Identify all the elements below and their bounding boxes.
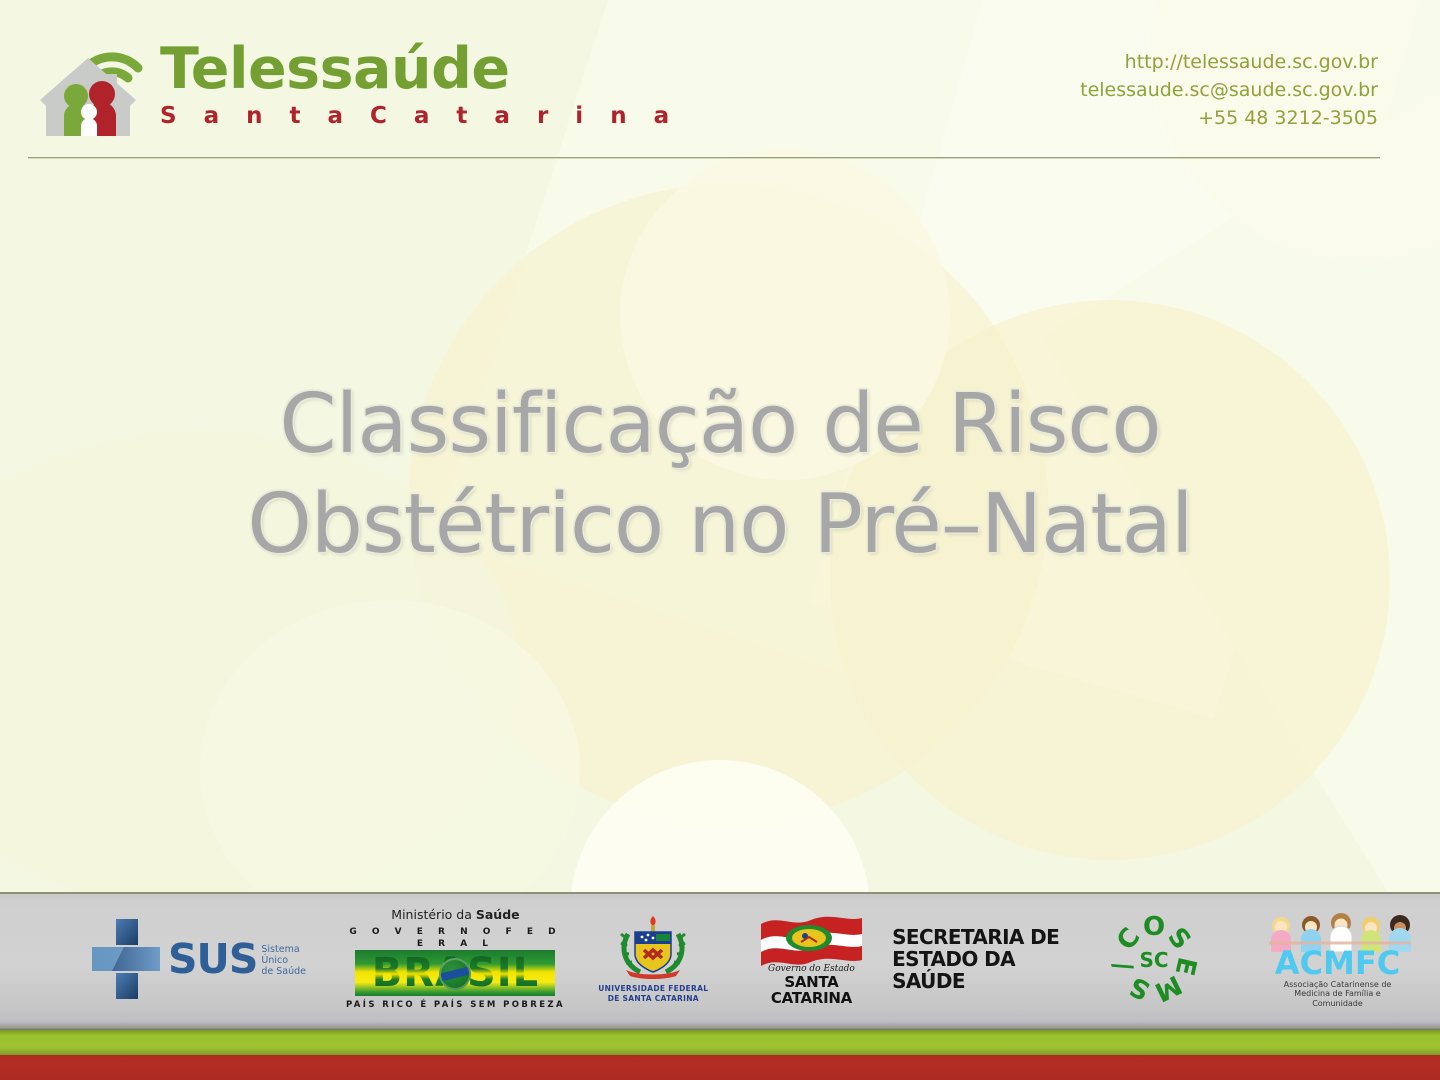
footer-logo-bar: SUS Sistema Único de Saúde Ministério da… [0, 892, 1440, 1024]
footer-accent-bar-red [0, 1055, 1440, 1080]
acmfc-subtitle-line1: Associação Catarinense de [1284, 980, 1392, 990]
title-line-1: Classificação de Risco [0, 375, 1440, 475]
telessaude-subtitle: S a n t a C a t a r i n a [160, 102, 679, 130]
santa-catarina-flag-icon [759, 912, 864, 972]
cosems-sc-logo: O S E M S / C SC [1073, 909, 1235, 1009]
contact-phone: +55 48 3212-3505 [1080, 104, 1378, 132]
contact-email[interactable]: telessaude.sc@saude.sc.gov.br [1080, 76, 1378, 104]
sus-subtitle-line1: Sistema [261, 944, 306, 955]
sus-subtitle-line3: de Saúde [261, 966, 306, 977]
governo-federal-label: G O V E R N O F E D E R A L [341, 926, 570, 950]
ministerio-saude-label: Ministério da Saúde [391, 907, 519, 922]
slide-title: Classificação de Risco Obstétrico no Pré… [0, 375, 1440, 575]
house-wifi-people-icon [38, 36, 156, 140]
telessaude-logo: Telessaúde S a n t a C a t a r i n a [38, 34, 518, 144]
sus-subtitle: Sistema Único de Saúde [261, 944, 306, 977]
svg-text:/: / [1108, 958, 1139, 974]
brasil-slogan: PAÍS RICO É PAÍS SEM POBREZA [346, 999, 565, 1011]
ufsc-label: UNIVERSIDADE FEDERAL DE SANTA CATARINA [598, 984, 708, 1004]
ufsc-label-line1: UNIVERSIDADE FEDERAL [598, 984, 708, 994]
svg-text:SC: SC [1139, 948, 1168, 972]
ministerio-prefix: Ministério da [391, 907, 476, 922]
svg-text:O: O [1143, 913, 1165, 942]
acmfc-logo: ACMFC Associação Catarinense de Medicina… [1235, 909, 1440, 1009]
contact-website[interactable]: http://telessaude.sc.gov.br [1080, 48, 1378, 76]
title-line-2: Obstétrico no Pré–Natal [0, 475, 1440, 575]
secretaria-line-2: ESTADO DA SAÚDE [892, 948, 1073, 992]
contact-info: http://telessaude.sc.gov.br telessaude.s… [1080, 48, 1378, 132]
acmfc-subtitle-line2: Medicina de Família e [1284, 989, 1392, 999]
sus-logo: SUS Sistema Único de Saúde [0, 909, 341, 1009]
ufsc-logo: UNIVERSIDADE FEDERAL DE SANTA CATARINA [570, 909, 737, 1009]
acmfc-subtitle: Associação Catarinense de Medicina de Fa… [1284, 980, 1392, 1009]
brasil-governo-federal-logo: Ministério da Saúde G O V E R N O F E D … [341, 909, 570, 1009]
santa-catarina-label: SANTA CATARINA [749, 974, 874, 1006]
secretaria-estado-saude-logo: Governo do Estado SANTA CATARINA SECRETA… [737, 909, 1073, 1009]
footer-divider-bar [0, 1022, 1440, 1030]
ufsc-label-line2: DE SANTA CATARINA [598, 994, 708, 1004]
slide-header: Telessaúde S a n t a C a t a r i n a htt… [0, 0, 1440, 160]
secretaria-line-1: SECRETARIA DE [892, 926, 1073, 948]
acmfc-acronym: ACMFC [1275, 946, 1400, 980]
sus-cross-icon [90, 917, 162, 1001]
ministerio-bold: Saúde [476, 907, 520, 922]
brasil-wordmark-block: BRASIL [355, 950, 555, 996]
svg-text:S: S [1125, 970, 1155, 1005]
ufsc-coat-of-arms-icon [618, 914, 688, 980]
header-divider [28, 157, 1380, 159]
sus-subtitle-line2: Único [261, 955, 306, 966]
telessaude-title: Telessaúde [160, 38, 679, 100]
telessaude-wordmark: Telessaúde S a n t a C a t a r i n a [160, 38, 679, 130]
background-circle-faint [200, 600, 580, 940]
acmfc-subtitle-line3: Comunidade [1284, 999, 1392, 1009]
footer-accent-bar-green [0, 1030, 1440, 1055]
secretaria-label: SECRETARIA DE ESTADO DA SAÚDE [892, 926, 1073, 992]
partner-logos: SUS Sistema Único de Saúde Ministério da… [0, 894, 1440, 1024]
sus-acronym: SUS [168, 939, 257, 980]
cosems-circular-icon: O S E M S / C SC [1108, 913, 1200, 1005]
presentation-slide: Telessaúde S a n t a C a t a r i n a htt… [0, 0, 1440, 1080]
